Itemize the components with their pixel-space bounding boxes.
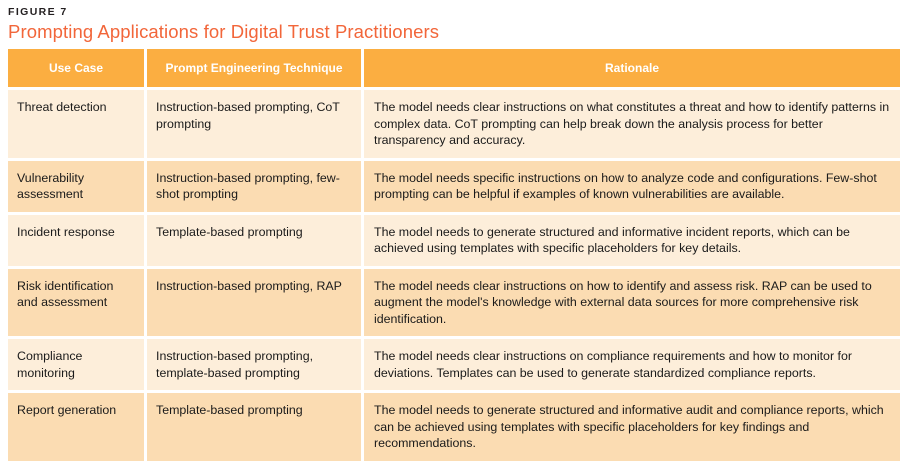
figure-header: FIGURE 7 Prompting Applications for Digi…	[0, 0, 900, 44]
cell-rationale: The model needs clear instructions on wh…	[364, 87, 900, 158]
figure-label: FIGURE 7	[8, 5, 892, 19]
table-row: Compliance monitoring Instruction-based …	[8, 336, 900, 390]
table-header-row: Use Case Prompt Engineering Technique Ra…	[8, 49, 900, 87]
table-row: Risk identification and assessment Instr…	[8, 266, 900, 337]
cell-rationale: The model needs to generate structured a…	[364, 212, 900, 266]
column-header-use-case: Use Case	[8, 49, 147, 87]
table-row: Threat detection Instruction-based promp…	[8, 87, 900, 158]
cell-use-case: Compliance monitoring	[8, 336, 147, 390]
table-body: Threat detection Instruction-based promp…	[8, 87, 900, 461]
cell-technique: Instruction-based prompting, few-shot pr…	[147, 158, 364, 212]
column-header-rationale: Rationale	[364, 49, 900, 87]
cell-use-case: Report generation	[8, 390, 147, 461]
prompting-applications-table: Use Case Prompt Engineering Technique Ra…	[8, 49, 900, 461]
cell-technique: Template-based prompting	[147, 212, 364, 266]
cell-use-case: Risk identification and assessment	[8, 266, 147, 337]
cell-rationale: The model needs clear instructions on co…	[364, 336, 900, 390]
table-row: Report generation Template-based prompti…	[8, 390, 900, 461]
cell-rationale: The model needs clear instructions on ho…	[364, 266, 900, 337]
cell-technique: Instruction-based prompting, template-ba…	[147, 336, 364, 390]
table-row: Incident response Template-based prompti…	[8, 212, 900, 266]
cell-use-case: Incident response	[8, 212, 147, 266]
cell-technique: Template-based prompting	[147, 390, 364, 461]
figure-title: Prompting Applications for Digital Trust…	[8, 20, 892, 44]
cell-use-case: Vulnerability assessment	[8, 158, 147, 212]
table-row: Vulnerability assessment Instruction-bas…	[8, 158, 900, 212]
cell-rationale: The model needs to generate structured a…	[364, 390, 900, 461]
table-header: Use Case Prompt Engineering Technique Ra…	[8, 49, 900, 87]
column-header-prompt-engineering-technique: Prompt Engineering Technique	[147, 49, 364, 87]
cell-technique: Instruction-based prompting, RAP	[147, 266, 364, 337]
cell-technique: Instruction-based prompting, CoT prompti…	[147, 87, 364, 158]
cell-rationale: The model needs specific instructions on…	[364, 158, 900, 212]
cell-use-case: Threat detection	[8, 87, 147, 158]
figure-container: FIGURE 7 Prompting Applications for Digi…	[0, 0, 900, 447]
